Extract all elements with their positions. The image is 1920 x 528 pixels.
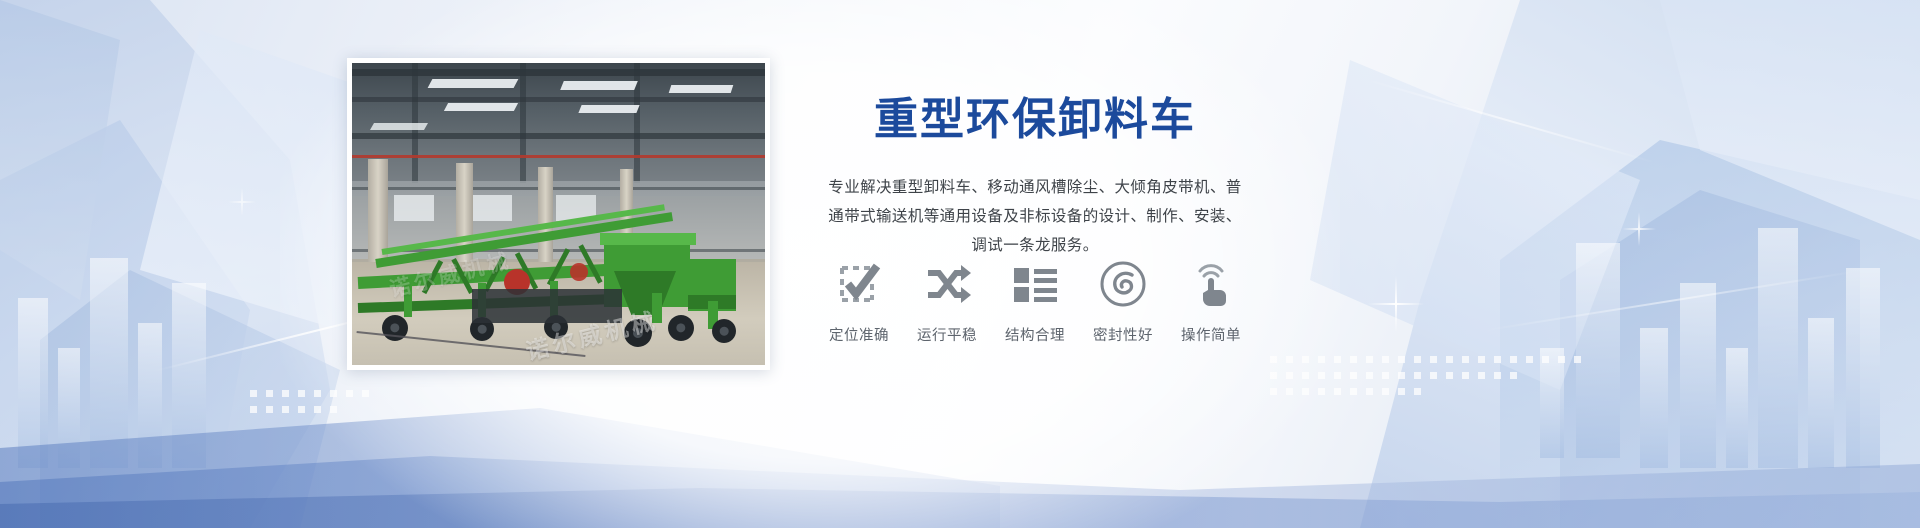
banner-description: 专业解决重型卸料车、移动通风槽除尘、大倾角皮带机、普 通带式输送机等通用设备及非… <box>800 174 1270 260</box>
banner-text-column: 重型环保卸料车 专业解决重型卸料车、移动通风槽除尘、大倾角皮带机、普 通带式输送… <box>800 96 1270 260</box>
machine-wheel <box>668 315 694 341</box>
roof-skylight <box>428 79 519 88</box>
description-line-3: 调试一条龙服务。 <box>800 232 1270 261</box>
hero-banner: 诺尔威机械 诺尔威机械 重型环保卸料车 专业解决重型卸料车、移动通风槽除尘、大倾… <box>0 0 1920 528</box>
checkbox-check-icon <box>820 258 898 310</box>
machine-wheel <box>712 319 736 343</box>
seal-swirl-icon <box>1084 258 1162 310</box>
wall-frame-line <box>352 187 765 190</box>
feature-item-structure[interactable]: 结构合理 <box>996 258 1074 345</box>
feature-list: 定位准确 运行平稳 <box>820 258 1250 345</box>
feature-label: 密封性好 <box>1084 324 1162 345</box>
description-line-2: 通带式输送机等通用设备及非标设备的设计、制作、安装、 <box>800 203 1270 232</box>
feature-item-smooth-running[interactable]: 运行平稳 <box>908 258 986 345</box>
product-photo-frame: 诺尔威机械 诺尔威机械 <box>347 58 770 370</box>
product-photo: 诺尔威机械 诺尔威机械 <box>352 63 765 365</box>
feature-item-positioning[interactable]: 定位准确 <box>820 258 898 345</box>
wall-window <box>394 195 434 221</box>
roof-skylight <box>370 123 428 130</box>
roof-beam <box>520 63 526 183</box>
feature-label: 运行平稳 <box>908 324 986 345</box>
roof-skylight <box>578 105 639 113</box>
feature-label: 操作简单 <box>1172 324 1250 345</box>
roof-skylight <box>444 103 518 111</box>
page-title: 重型环保卸料车 <box>800 96 1270 144</box>
description-line-1: 专业解决重型卸料车、移动通风槽除尘、大倾角皮带机、普 <box>800 174 1270 203</box>
machine-hopper-top <box>600 233 696 245</box>
feature-label: 定位准确 <box>820 324 898 345</box>
feature-label: 结构合理 <box>996 324 1074 345</box>
feature-item-sealing[interactable]: 密封性好 <box>1084 258 1162 345</box>
roof-red-stripe <box>352 155 765 158</box>
roof-skylight <box>560 81 638 90</box>
roof-skylight <box>669 85 734 93</box>
wall-window <box>472 195 512 221</box>
hand-touch-icon <box>1172 258 1250 310</box>
machine-red-drum <box>570 263 588 281</box>
layout-blocks-icon <box>996 258 1074 310</box>
feature-item-easy-operation[interactable]: 操作简单 <box>1172 258 1250 345</box>
shuffle-arrows-icon <box>908 258 986 310</box>
